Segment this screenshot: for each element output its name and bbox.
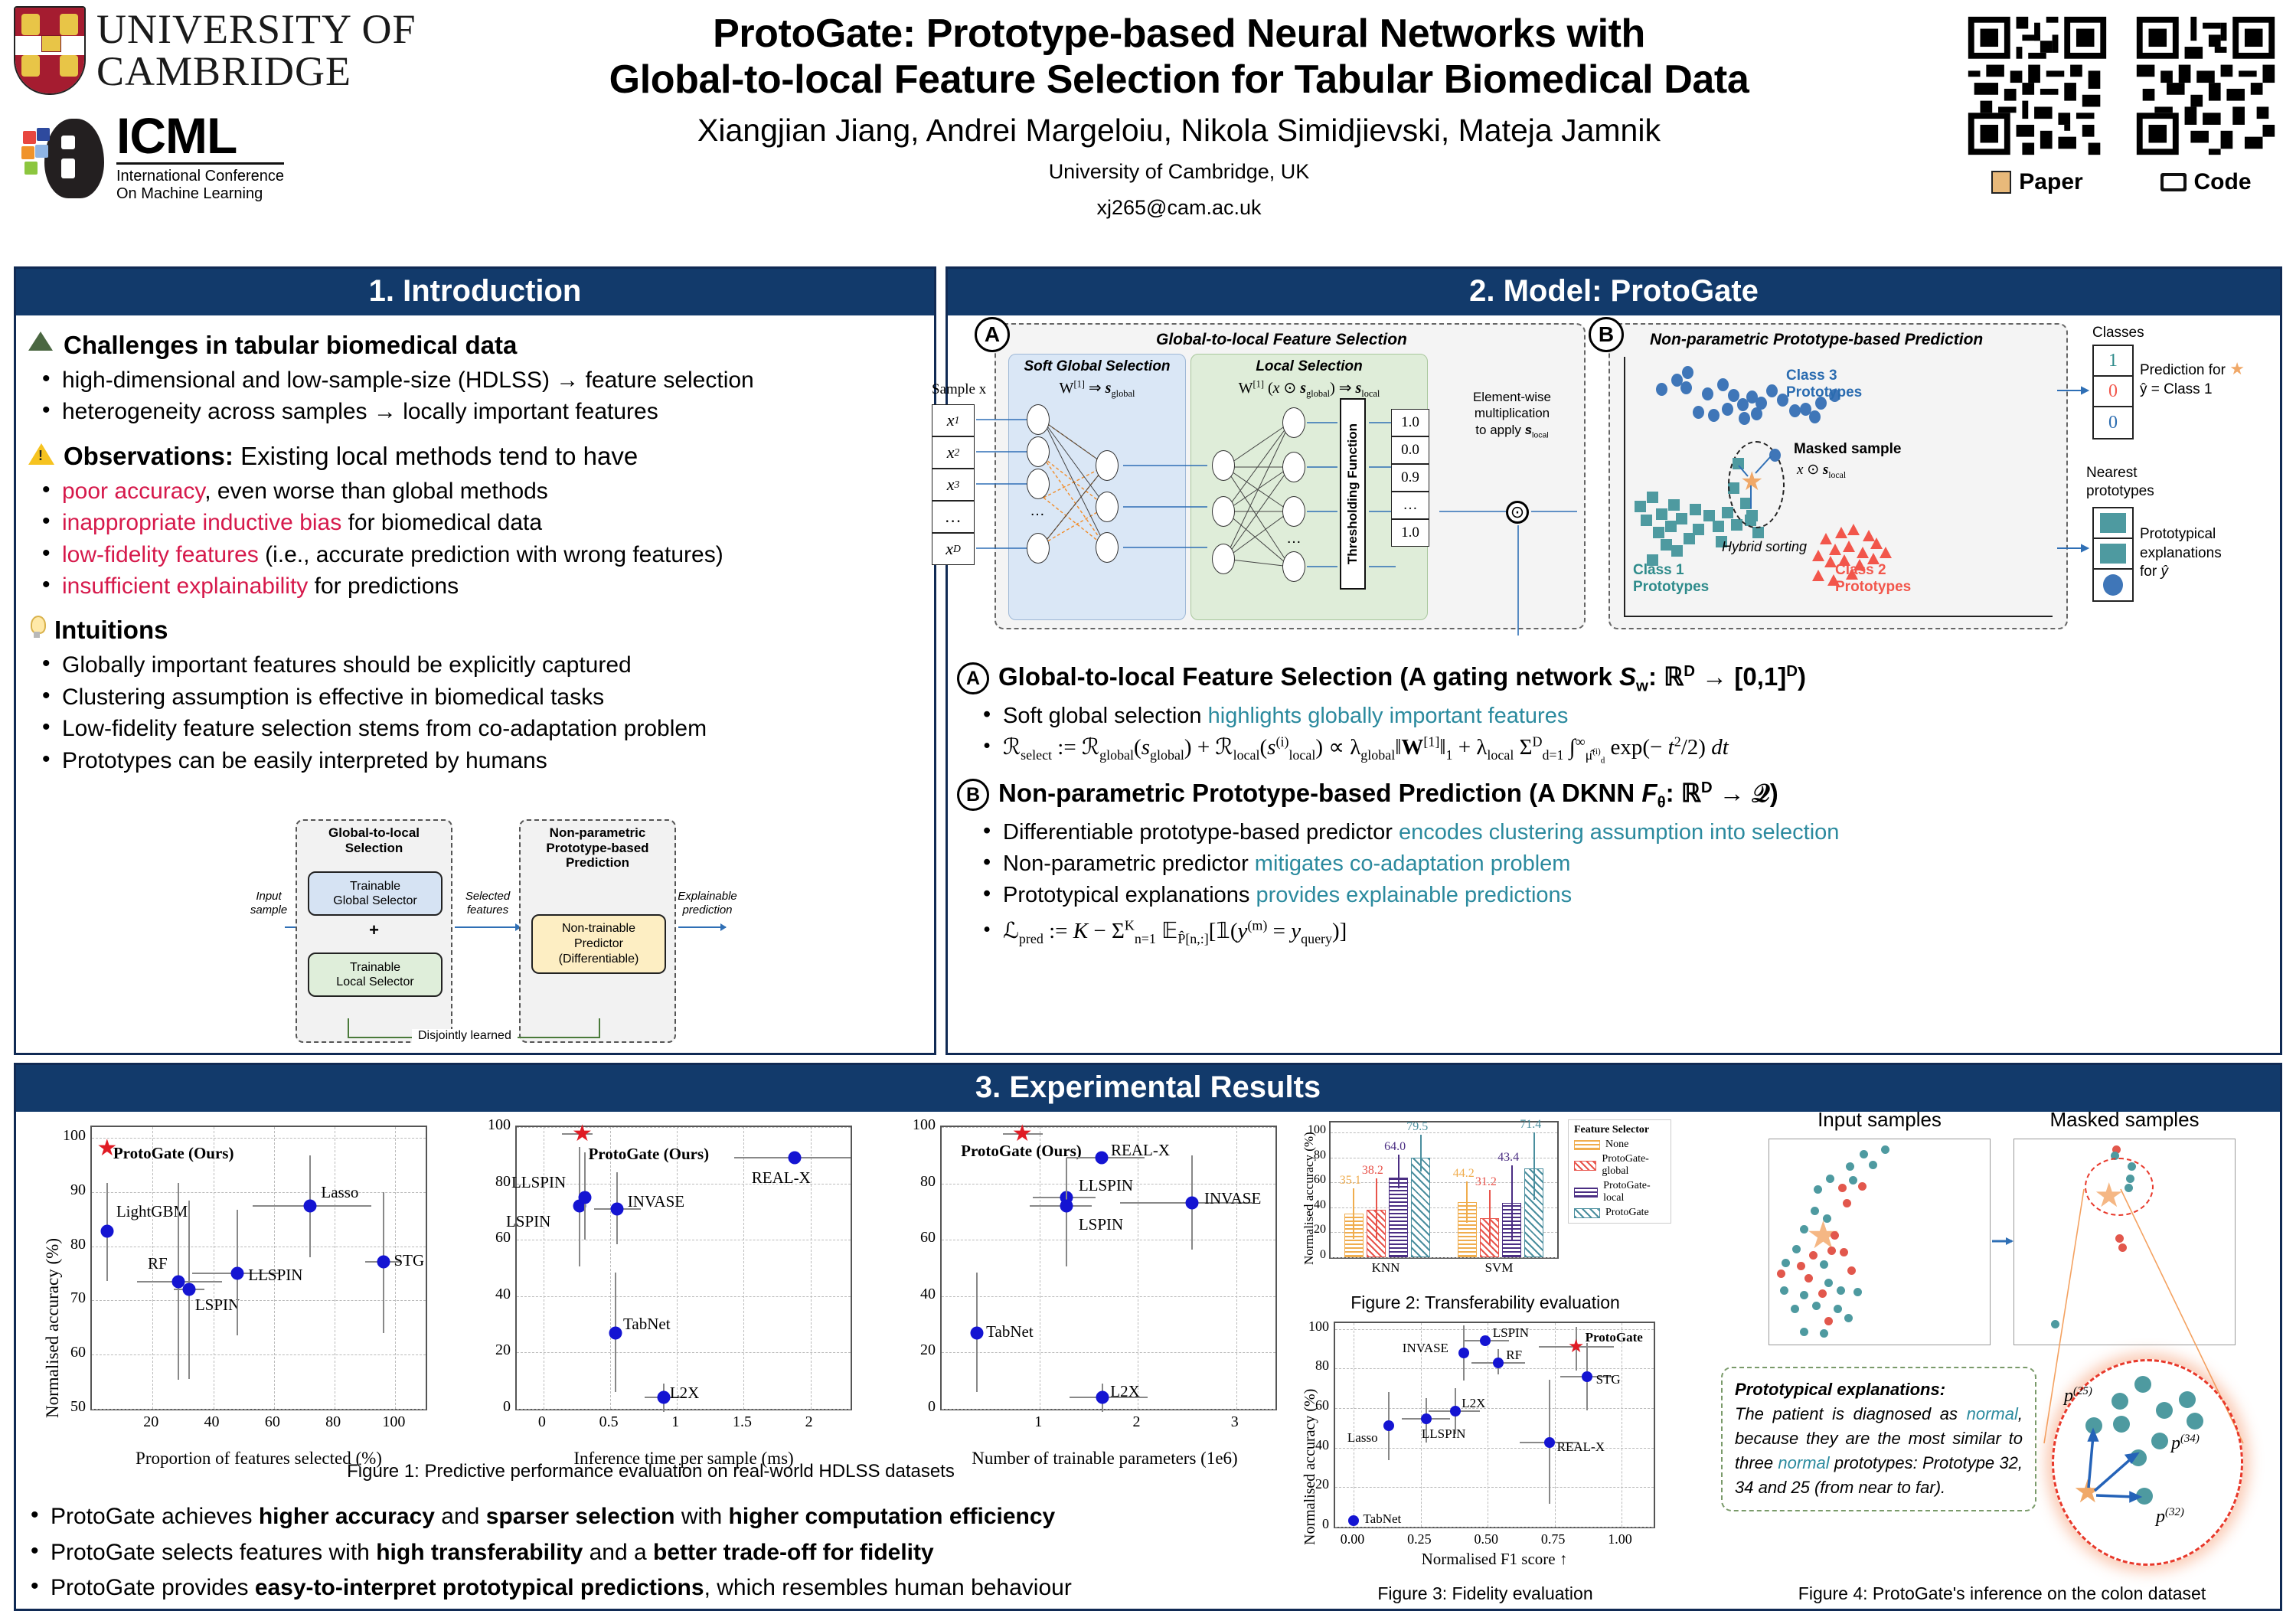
neuron bbox=[1027, 469, 1050, 499]
input-xD: xD bbox=[932, 533, 975, 565]
neuron bbox=[1027, 533, 1050, 564]
y-tick-label: 20 bbox=[1297, 1476, 1329, 1492]
legend-label: ProtoGate-local bbox=[1603, 1180, 1665, 1204]
bar-value-label: 38.2 bbox=[1362, 1164, 1383, 1178]
arrow-output bbox=[678, 926, 726, 928]
gridline-h bbox=[942, 1352, 1275, 1353]
formula-b: ℒpred := K − ΣKn=1 𝔼P̂[n,:][𝟙(y(m) = yqu… bbox=[978, 916, 2289, 949]
series-label: ProtoGate (Ours) bbox=[113, 1144, 234, 1163]
series-label: STG bbox=[1596, 1372, 1621, 1387]
series-label: ProtoGate (Ours) bbox=[961, 1142, 1082, 1161]
figure4: Input samples Masked samples ★ ★ bbox=[1723, 1106, 2281, 1581]
y-tick-label: 20 bbox=[903, 1341, 936, 1359]
x-tick-label: 2 bbox=[1119, 1413, 1153, 1431]
explanation-title: Prototypical explanations: bbox=[1735, 1377, 2023, 1402]
legend-title: Feature Selector bbox=[1574, 1124, 1665, 1136]
proto-slot-1 bbox=[2094, 539, 2132, 570]
figure3-chart: Normalised accuracy (%) TabNetLassoLLSPI… bbox=[1294, 1315, 1677, 1591]
masked-highlight-ellipse bbox=[2085, 1158, 2154, 1216]
code-label: Code bbox=[2131, 169, 2281, 195]
cambridge-logo: UNIVERSITY OF CAMBRIDGE bbox=[14, 6, 443, 95]
x-tick-label: 40 bbox=[195, 1413, 229, 1431]
nearest-prototypes-label: Nearestprototypes bbox=[2086, 464, 2154, 501]
class-value-1: 0 bbox=[2094, 377, 2132, 407]
gridline-h bbox=[1331, 1182, 1557, 1183]
data-point bbox=[377, 1255, 390, 1268]
panel-b-title: Non-parametric Prototype-based Predictio… bbox=[1650, 331, 1983, 349]
y-tick-label: 80 bbox=[478, 1173, 511, 1191]
y-tick-label: 80 bbox=[903, 1173, 936, 1191]
paper-qr-item[interactable]: Paper bbox=[1962, 11, 2112, 195]
x-tick-label: 0.00 bbox=[1335, 1531, 1369, 1547]
y-tick-label: 50 bbox=[54, 1398, 86, 1416]
legend-label: ProtoGate-global bbox=[1602, 1153, 1665, 1178]
y-tick-label: 60 bbox=[903, 1229, 936, 1247]
x-tick-label: 0 bbox=[525, 1413, 559, 1431]
y-tick-label: 100 bbox=[1303, 1123, 1326, 1137]
figure1-chart-c: ★ProtoGate (Ours)REAL-XLLSPINLSPININVASE… bbox=[880, 1112, 1286, 1502]
error-bar-vertical bbox=[1376, 1178, 1377, 1240]
proto-label-34: p(34) bbox=[2171, 1433, 2200, 1454]
masked-formula: x ⊙ slocal bbox=[1797, 461, 1846, 481]
input-samples-box: ★ bbox=[1769, 1139, 1991, 1345]
challenges-list: high-dimensional and low-sample-size (HD… bbox=[36, 364, 922, 428]
list-item: Soft global selection highlights globall… bbox=[978, 701, 2289, 732]
y-tick-label: 70 bbox=[54, 1289, 86, 1307]
gridline-v bbox=[1236, 1127, 1237, 1409]
gridline-v bbox=[743, 1127, 744, 1409]
y-tick-label: 80 bbox=[54, 1236, 86, 1253]
badge-a-inline: A bbox=[957, 662, 989, 694]
neuron bbox=[1027, 404, 1050, 435]
paper-qr-icon[interactable] bbox=[1962, 11, 2112, 161]
bar-value-label: 43.4 bbox=[1497, 1151, 1519, 1165]
series-label: STG bbox=[394, 1251, 425, 1270]
list-item: Prototypical explanations provides expla… bbox=[978, 880, 2289, 911]
badge-b-inline: B bbox=[957, 779, 989, 811]
sample-x-label: Sample x bbox=[932, 381, 986, 398]
series-label: L2X bbox=[1110, 1382, 1140, 1401]
cambridge-crest-icon bbox=[14, 6, 86, 95]
observations-list: poor accuracy, even worse than global me… bbox=[36, 475, 922, 603]
figure1-caption: Figure 1: Predictive performance evaluat… bbox=[191, 1461, 1110, 1482]
logo-column: UNIVERSITY OF CAMBRIDGE ICML Internation… bbox=[14, 6, 443, 204]
disjointly-learned-label: Disjointly learned bbox=[412, 1029, 518, 1043]
star-icon: ★ bbox=[2229, 359, 2245, 378]
data-point bbox=[1493, 1358, 1504, 1368]
affiliation: University of Cambridge, UK bbox=[490, 159, 1868, 185]
gridline-h bbox=[1331, 1158, 1557, 1158]
gridline-h bbox=[1335, 1408, 1654, 1409]
gridline-h bbox=[942, 1127, 1275, 1128]
explainable-prediction-label: Explainableprediction bbox=[675, 890, 740, 917]
legend-swatch bbox=[1574, 1208, 1600, 1218]
gridline-v bbox=[1354, 1323, 1354, 1527]
badge-a: A bbox=[975, 317, 1010, 352]
gridline-v bbox=[610, 1127, 611, 1409]
data-point bbox=[1186, 1197, 1199, 1210]
legend-swatch bbox=[1574, 1161, 1596, 1171]
gridline-h bbox=[1335, 1448, 1654, 1449]
gridline-h bbox=[1331, 1207, 1557, 1208]
series-label: L2X bbox=[670, 1384, 700, 1403]
figure1-chart-a: Normalised accuracy (%) ★ProtoGate (Ours… bbox=[31, 1112, 436, 1502]
section-b-list: Differentiable prototype-based predictor… bbox=[978, 817, 2289, 949]
model-bullets: A Global-to-local Feature Selection (A g… bbox=[957, 658, 2289, 949]
list-item: Low-fidelity feature selection stems fro… bbox=[36, 713, 922, 744]
neuron bbox=[1212, 544, 1235, 574]
y-tick-label: 60 bbox=[478, 1229, 511, 1247]
gridline-h bbox=[517, 1296, 851, 1297]
global-local-title: Global-to-localSelection bbox=[297, 821, 451, 855]
classes-label: Classes bbox=[2092, 325, 2144, 341]
series-label: LLSPIN bbox=[248, 1266, 302, 1285]
data-point bbox=[100, 1224, 113, 1237]
gridline-h bbox=[92, 1300, 426, 1301]
proto-slot-0 bbox=[2094, 508, 2132, 539]
series-label: REAL-X bbox=[1111, 1141, 1170, 1160]
neuron bbox=[1212, 496, 1235, 527]
laptop-icon bbox=[2160, 173, 2187, 191]
observations-title: Observations: bbox=[64, 442, 234, 470]
neuron bbox=[1282, 452, 1305, 482]
x-tick-label: 1 bbox=[658, 1413, 692, 1431]
x-tick-label: 0.75 bbox=[1537, 1531, 1570, 1547]
input-ellipsis: … bbox=[932, 501, 975, 533]
arrow-selected bbox=[455, 926, 521, 928]
series-label: L2X bbox=[1462, 1396, 1485, 1411]
data-point bbox=[610, 1202, 623, 1215]
input-x3: x3 bbox=[932, 469, 975, 501]
category-label: SVM bbox=[1442, 1260, 1556, 1276]
badge-b: B bbox=[1589, 317, 1624, 352]
gridline-v bbox=[1138, 1127, 1138, 1409]
list-item: ProtoGate selects features with high tra… bbox=[26, 1535, 1312, 1571]
nearest-prototypes-box bbox=[2092, 507, 2134, 602]
section-b-heading: B Non-parametric Prototype-based Predict… bbox=[957, 778, 2289, 812]
bar-value-label: 44.2 bbox=[1453, 1167, 1475, 1181]
list-item: high-dimensional and low-sample-size (HD… bbox=[36, 364, 922, 396]
bar-value-label: 64.0 bbox=[1384, 1140, 1406, 1154]
panel-a-title: Global-to-local Feature Selection bbox=[1156, 331, 1407, 349]
intuitions-title: Intuitions bbox=[54, 616, 168, 645]
data-point bbox=[182, 1283, 195, 1296]
y-tick-label: 60 bbox=[54, 1344, 86, 1361]
local-selection-title: Local Selection bbox=[1191, 355, 1427, 375]
y-tick-label: 40 bbox=[1303, 1198, 1326, 1212]
gridline-h bbox=[942, 1240, 1275, 1240]
series-label: LLSPIN bbox=[511, 1173, 566, 1192]
code-qr-icon[interactable] bbox=[2131, 11, 2281, 161]
plus-sign: + bbox=[297, 920, 451, 940]
data-point bbox=[657, 1391, 670, 1404]
mountain-icon bbox=[28, 331, 54, 351]
ellipsis: … bbox=[1030, 502, 1045, 520]
data-point bbox=[1060, 1200, 1073, 1213]
gridline-h bbox=[517, 1352, 851, 1353]
series-label: Lasso bbox=[321, 1183, 358, 1202]
trainable-local-selector-box: TrainableLocal Selector bbox=[308, 953, 443, 997]
intuitions-heading: Intuitions bbox=[28, 616, 922, 645]
list-item: Differentiable prototype-based predictor… bbox=[978, 817, 2289, 848]
non-trainable-predictor-box: Non-trainablePredictor(Differentiable) bbox=[531, 914, 666, 974]
series-label: LSPIN bbox=[195, 1296, 240, 1315]
introduction-heading: 1. Introduction bbox=[16, 269, 934, 315]
gridline-v bbox=[811, 1127, 812, 1409]
x-tick-label: 1.00 bbox=[1603, 1531, 1637, 1547]
x-tick-label: 0.5 bbox=[592, 1413, 625, 1431]
proto-slot-2 bbox=[2094, 570, 2132, 600]
fig2-plot: 35.138.264.079.544.231.243.471.4 bbox=[1329, 1121, 1559, 1259]
gridline-h bbox=[92, 1192, 426, 1193]
y-tick-label: 40 bbox=[903, 1286, 936, 1303]
prototypical-explanation-box: Prototypical explanations: The patient i… bbox=[1721, 1367, 2036, 1511]
input-x1: x1 bbox=[932, 404, 975, 436]
gridline-v bbox=[1555, 1323, 1556, 1527]
fig2-legend: Feature SelectorNoneProtoGate-globalProt… bbox=[1568, 1119, 1671, 1224]
bar-value-label: 79.5 bbox=[1406, 1120, 1428, 1134]
error-bar-vertical bbox=[1420, 1135, 1422, 1171]
fig1a-ylabel: Normalised accuracy (%) bbox=[43, 1238, 63, 1418]
input-sample-label: Inputsample bbox=[240, 890, 297, 917]
series-label: TabNet bbox=[623, 1315, 671, 1334]
x-tick-label: 60 bbox=[256, 1413, 289, 1431]
results-heading: 3. Experimental Results bbox=[16, 1065, 2280, 1112]
list-item: Clustering assumption is effective in bi… bbox=[36, 681, 922, 713]
section-b-title: Non-parametric Prototype-based Predictio… bbox=[998, 778, 1778, 812]
paper-label: Paper bbox=[1962, 169, 2112, 195]
input-x2: x2 bbox=[932, 436, 975, 469]
x-tick-label: 100 bbox=[377, 1413, 410, 1431]
proto-label-25: p(25) bbox=[2064, 1385, 2092, 1407]
global-to-local-group: Global-to-localSelection TrainableGlobal… bbox=[296, 819, 452, 1043]
gridline-h bbox=[517, 1409, 851, 1410]
classes-box: 1 0 0 bbox=[2092, 345, 2134, 439]
data-point bbox=[1096, 1391, 1109, 1404]
prediction-label: Prediction for ★ ŷ = Class 1 bbox=[2140, 358, 2245, 399]
series-label: TabNet bbox=[1363, 1511, 1401, 1527]
data-point bbox=[1582, 1371, 1592, 1382]
y-tick-label: 90 bbox=[54, 1181, 86, 1199]
y-tick-label: 0 bbox=[478, 1398, 511, 1416]
section-a-title: Global-to-local Feature Selection (A gat… bbox=[998, 662, 1806, 696]
series-label: REAL-X bbox=[752, 1168, 811, 1188]
neuron bbox=[1282, 407, 1305, 438]
fig1b-plot: ★ProtoGate (Ours)LSPINLLSPININVASEREAL-X… bbox=[515, 1126, 852, 1410]
series-label: INVASE bbox=[1204, 1189, 1261, 1208]
y-tick-label: 80 bbox=[1303, 1149, 1326, 1162]
list-item: Non-parametric predictor mitigates co-ad… bbox=[978, 848, 2289, 880]
gridline-v bbox=[1488, 1323, 1488, 1527]
error-bar-vertical bbox=[1511, 1165, 1513, 1240]
list-item: Globally important features should be ex… bbox=[36, 649, 922, 681]
series-label: LLSPIN bbox=[1079, 1176, 1133, 1195]
page-title-line-2: Global-to-local Feature Selection for Ta… bbox=[490, 57, 1868, 103]
gridline-v bbox=[677, 1127, 678, 1409]
error-bar-vertical bbox=[1353, 1188, 1354, 1238]
y-tick-label: 100 bbox=[478, 1116, 511, 1134]
data-point bbox=[1096, 1152, 1109, 1165]
y-tick-label: 100 bbox=[54, 1127, 86, 1145]
gridline-h bbox=[1335, 1487, 1654, 1488]
neuron bbox=[1027, 436, 1050, 467]
introduction-body: Challenges in tabular biomedical data hi… bbox=[16, 315, 934, 789]
prototype-prediction-group: Non-parametricPrototype-basedPrediction … bbox=[519, 819, 676, 1043]
icml-logo: ICML International Conference On Machine… bbox=[21, 112, 443, 204]
gridline-h bbox=[1331, 1257, 1557, 1258]
class-value-0: 1 bbox=[2094, 346, 2132, 377]
series-label: INVASE bbox=[1403, 1341, 1448, 1356]
neuron bbox=[1096, 532, 1119, 563]
nonparam-title: Non-parametricPrototype-basedPrediction bbox=[521, 821, 674, 871]
gridline-h bbox=[942, 1409, 1275, 1410]
y-tick-label: 0 bbox=[903, 1398, 936, 1416]
x-tick-label: 3 bbox=[1218, 1413, 1252, 1431]
icml-wordmark: ICML International Conference On Machine… bbox=[116, 112, 284, 204]
thresholding-function-box: Thresholding Function bbox=[1340, 398, 1366, 590]
s-value-1: 0.0 bbox=[1391, 436, 1429, 464]
figure3-caption: Figure 3: Fidelity evaluation bbox=[1294, 1583, 1677, 1604]
x-tick-label: 1 bbox=[1021, 1413, 1055, 1431]
y-tick-label: 20 bbox=[1303, 1223, 1326, 1237]
x-tick-label: 20 bbox=[134, 1413, 168, 1431]
y-tick-label: 0 bbox=[1303, 1248, 1326, 1262]
legend-item: ProtoGate-global bbox=[1574, 1153, 1665, 1178]
title-block: ProtoGate: Prototype-based Neural Networ… bbox=[490, 11, 1868, 221]
list-item: insufficient explainability for predicti… bbox=[36, 570, 922, 602]
protogate-star-marker: ★ bbox=[572, 1122, 593, 1145]
legend-item: None bbox=[1574, 1139, 1665, 1151]
list-item: heterogeneity across samples → locally i… bbox=[36, 396, 922, 427]
series-label: TabNet bbox=[986, 1322, 1034, 1341]
challenges-heading: Challenges in tabular biomedical data bbox=[28, 331, 922, 360]
gridline-h bbox=[1335, 1368, 1654, 1369]
error-bar-vertical bbox=[1533, 1132, 1535, 1200]
gridline-h bbox=[92, 1138, 426, 1139]
zoom-contents: ★ p(25) p(34) p(32) bbox=[2052, 1359, 2243, 1566]
gridline-h bbox=[92, 1354, 426, 1355]
soft-global-title: Soft Global Selection bbox=[1009, 355, 1185, 375]
list-item: low-fidelity features (i.e., accurate pr… bbox=[36, 539, 922, 570]
legend-item: ProtoGate-local bbox=[1574, 1180, 1665, 1204]
data-point bbox=[1348, 1515, 1359, 1526]
fig1c-plot: ★ProtoGate (Ours)REAL-XLLSPINLSPININVASE… bbox=[940, 1126, 1277, 1410]
list-item: Prototypes can be easily interpreted by … bbox=[36, 745, 922, 776]
section-a-heading: A Global-to-local Feature Selection (A g… bbox=[957, 662, 2289, 696]
y-tick-label: 80 bbox=[1297, 1358, 1329, 1374]
hadamard-operator-icon: ⊙ bbox=[1506, 501, 1529, 524]
x-tick-label: 0.25 bbox=[1403, 1531, 1436, 1547]
gridline-h bbox=[517, 1127, 851, 1128]
proto-label-32: p(32) bbox=[2156, 1506, 2184, 1528]
masked-samples-title: Masked samples bbox=[2013, 1108, 2236, 1132]
list-item: ProtoGate provides easy-to-interpret pro… bbox=[26, 1570, 1312, 1606]
series-label: Lasso bbox=[1347, 1430, 1378, 1446]
bar-value-label: 71.4 bbox=[1520, 1118, 1541, 1132]
elementwise-label: Element-wisemultiplicationto apply sloca… bbox=[1451, 389, 1573, 440]
neuron bbox=[1282, 551, 1305, 582]
data-point bbox=[609, 1326, 622, 1339]
class-value-2: 0 bbox=[2094, 407, 2132, 438]
author-list: Xiangjian Jiang, Andrei Margeloiu, Nikol… bbox=[490, 113, 1868, 149]
y-tick-label: 40 bbox=[1297, 1437, 1329, 1453]
legend-swatch bbox=[1574, 1140, 1600, 1150]
figure2-chart: Normalised accuracy (%) 35.138.264.079.5… bbox=[1294, 1112, 1677, 1303]
bar-value-label: 31.2 bbox=[1475, 1175, 1497, 1189]
neuron bbox=[1096, 450, 1119, 481]
prototypical-explanations-label: Prototypicalexplanationsfor ŷ bbox=[2140, 525, 2222, 582]
qr-code-column: Paper bbox=[1962, 11, 2281, 195]
x-tick-label: 0.50 bbox=[1469, 1531, 1503, 1547]
legend-label: None bbox=[1605, 1139, 1628, 1151]
error-bar-vertical bbox=[1466, 1181, 1468, 1224]
neuron bbox=[1096, 492, 1119, 522]
contact-email: xj265@cam.ac.uk bbox=[490, 195, 1868, 221]
data-point bbox=[1544, 1437, 1555, 1448]
gridline-h bbox=[942, 1296, 1275, 1297]
local-selection-formula: W[1] (x ⊙ sglobal) ⇒ slocal bbox=[1191, 375, 1427, 400]
legend-swatch bbox=[1574, 1188, 1598, 1198]
data-point bbox=[1421, 1413, 1432, 1424]
poster-header: UNIVERSITY OF CAMBRIDGE ICML Internation… bbox=[0, 0, 2296, 260]
data-point bbox=[1458, 1348, 1469, 1358]
code-qr-item[interactable]: Code bbox=[2131, 11, 2281, 195]
fig1a-plot: ★ProtoGate (Ours)LightGBMRFLSPINLLSPINLa… bbox=[90, 1126, 427, 1410]
y-tick-label: 60 bbox=[1297, 1397, 1329, 1413]
gridline-v bbox=[1622, 1323, 1622, 1527]
data-point bbox=[788, 1152, 801, 1165]
x-tick-label: 2 bbox=[792, 1413, 826, 1431]
y-tick-label: 60 bbox=[1303, 1173, 1326, 1187]
gridline-v bbox=[544, 1127, 544, 1409]
intuitions-list: Globally important features should be ex… bbox=[36, 649, 922, 776]
s-value-2: 0.9 bbox=[1391, 464, 1429, 492]
document-icon bbox=[1991, 171, 2011, 194]
data-point bbox=[231, 1267, 244, 1280]
data-point bbox=[1450, 1406, 1461, 1417]
data-point bbox=[304, 1200, 317, 1213]
series-label: REAL-X bbox=[1557, 1439, 1605, 1455]
results-bullet-list: ProtoGate achieves higher accuracy and s… bbox=[26, 1499, 1312, 1606]
gridline-h bbox=[92, 1409, 426, 1410]
bar-value-label: 35.1 bbox=[1340, 1174, 1361, 1188]
s-value-3: … bbox=[1391, 492, 1429, 519]
y-tick-label: 40 bbox=[478, 1286, 511, 1303]
icml-brain-icon bbox=[21, 116, 104, 200]
section-a-list: Soft global selection highlights globall… bbox=[978, 701, 2289, 767]
warning-icon bbox=[28, 442, 54, 465]
figure1-chart-b: ★ProtoGate (Ours)LSPINLLSPININVASEREAL-X… bbox=[456, 1112, 861, 1502]
hybrid-sorting-label: Hybrid sorting bbox=[1722, 539, 1807, 555]
selected-features-label: Selectedfeatures bbox=[455, 890, 521, 917]
series-label: LSPIN bbox=[506, 1212, 550, 1231]
cambridge-wordmark: UNIVERSITY OF CAMBRIDGE bbox=[96, 8, 416, 93]
gridline-h bbox=[517, 1240, 851, 1240]
series-label: RF bbox=[148, 1254, 168, 1273]
data-point bbox=[1383, 1420, 1394, 1431]
series-label: RF bbox=[1506, 1348, 1522, 1363]
data-point bbox=[578, 1191, 591, 1204]
error-bar-vertical bbox=[1489, 1190, 1491, 1246]
data-point bbox=[971, 1326, 984, 1339]
page-title-line-1: ProtoGate: Prototype-based Neural Networ… bbox=[490, 11, 1868, 57]
figure2-caption: Figure 2: Transferability evaluation bbox=[1294, 1292, 1677, 1313]
input-samples-title: Input samples bbox=[1769, 1108, 1991, 1132]
y-tick-label: 100 bbox=[1297, 1318, 1329, 1335]
model-heading: 2. Model: ProtoGate bbox=[948, 269, 2280, 315]
fig3-xlabel: Normalised F1 score ↑ bbox=[1334, 1550, 1655, 1569]
series-label: INVASE bbox=[628, 1192, 684, 1211]
